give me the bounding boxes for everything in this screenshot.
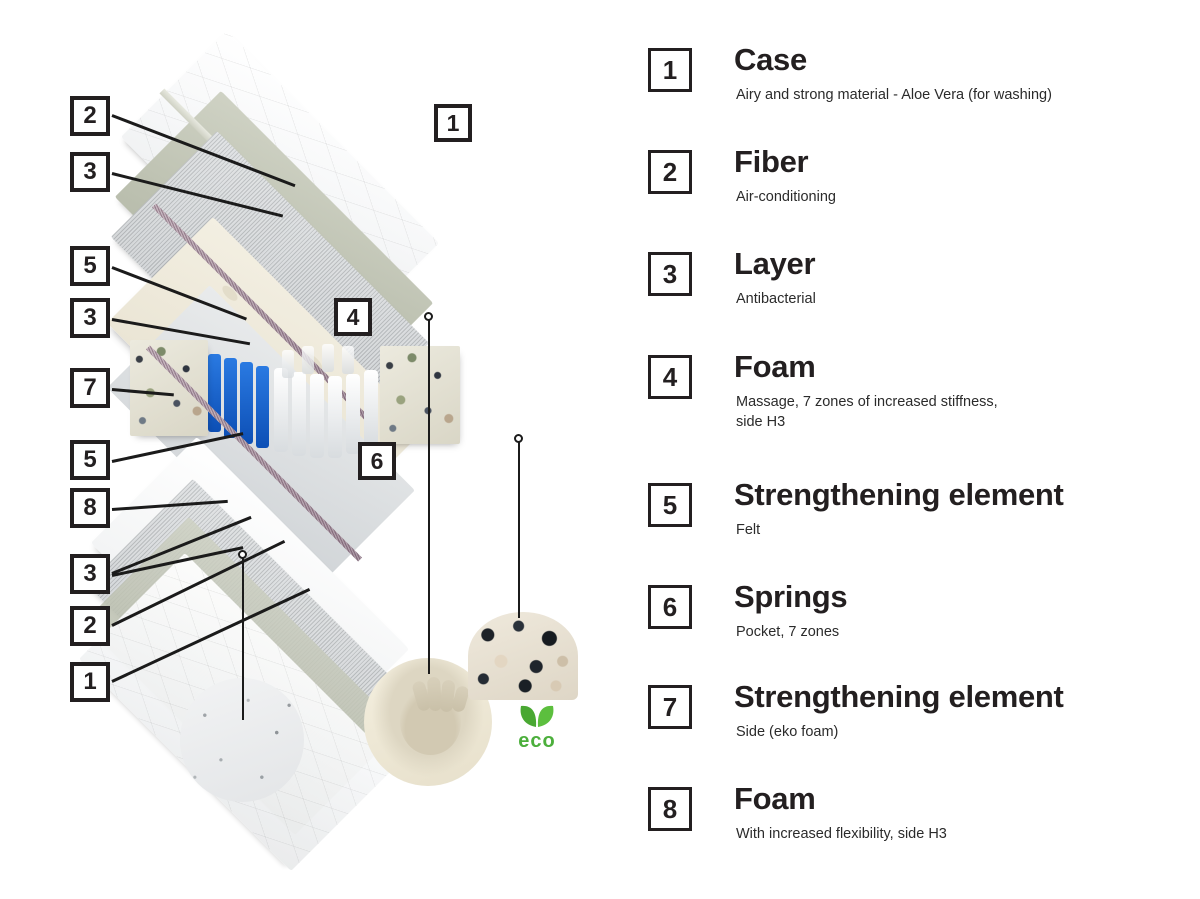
- legend-desc-7: Side (eko foam): [736, 723, 838, 743]
- legend-title-8: Foam: [734, 781, 815, 817]
- callout-left-2-top: 2: [70, 96, 110, 136]
- pointer-line-foam: [242, 558, 244, 720]
- legend-number-4: 4: [648, 355, 692, 399]
- callout-left-3-top: 3: [70, 152, 110, 192]
- callout-left-3-upper: 3: [70, 298, 110, 338]
- legend-title-5: Strengthening element: [734, 477, 1064, 513]
- legend-number-5: 5: [648, 483, 692, 527]
- legend-title-1: Case: [734, 42, 807, 78]
- legend-desc-4: Massage, 7 zones of increased stiffness,…: [736, 393, 998, 432]
- spring-pocket: [342, 346, 354, 374]
- spring-pocket: [302, 346, 314, 374]
- spring-blue: [256, 366, 269, 448]
- legend-number-8: 8: [648, 787, 692, 831]
- callout-left-2-bottom: 2: [70, 606, 110, 646]
- legend-title-7: Strengthening element: [734, 679, 1064, 715]
- legend-desc-5: Felt: [736, 521, 760, 541]
- eco-label: eco: [508, 731, 566, 751]
- legend-desc-3: Antibacterial: [736, 290, 816, 310]
- callout-image-4: 4: [334, 298, 372, 336]
- callout-left-8: 8: [70, 488, 110, 528]
- eco-badge: eco: [508, 702, 566, 751]
- legend-number-2: 2: [648, 150, 692, 194]
- legend-number-7: 7: [648, 685, 692, 729]
- callout-left-3-bottom: 3: [70, 554, 110, 594]
- legend-title-4: Foam: [734, 349, 815, 385]
- legend-number-3: 3: [648, 252, 692, 296]
- callout-left-5-upper: 5: [70, 246, 110, 286]
- legend-desc-2: Air-conditioning: [736, 188, 836, 208]
- pointer-dot-massage-foam: [424, 312, 433, 321]
- callout-image-6: 6: [358, 442, 396, 480]
- side-block-eco-foam-left: [130, 340, 208, 436]
- legend-title-6: Springs: [734, 579, 847, 615]
- detail-circle-eco-foam: [468, 612, 578, 700]
- spring-pocket: [364, 370, 378, 446]
- mattress-layers-diagram: 1 4 6 2 3 5 3 7 5 8 3 2 1: [0, 0, 1200, 899]
- pointer-dot-foam: [238, 550, 247, 559]
- pointer-line-massage-foam: [428, 320, 430, 674]
- spring-pocket: [322, 344, 334, 372]
- legend-desc-8: With increased flexibility, side H3: [736, 825, 947, 845]
- spring-pocket: [274, 368, 288, 452]
- callout-left-5-lower: 5: [70, 440, 110, 480]
- legend-desc-6: Pocket, 7 zones: [736, 623, 839, 643]
- callout-left-1-bottom: 1: [70, 662, 110, 702]
- legend-number-6: 6: [648, 585, 692, 629]
- callout-left-7: 7: [70, 368, 110, 408]
- leaf-icon: [517, 702, 557, 728]
- legend-list: 1 Case Airy and strong material - Aloe V…: [648, 40, 1168, 870]
- callout-image-1: 1: [434, 104, 472, 142]
- legend-desc-1: Airy and strong material - Aloe Vera (fo…: [736, 86, 1052, 106]
- spring-pocket: [310, 374, 324, 458]
- side-block-eco-foam-right: [380, 346, 460, 444]
- legend-title-3: Layer: [734, 246, 815, 282]
- spring-pocket: [292, 372, 306, 456]
- legend-title-2: Fiber: [734, 144, 808, 180]
- legend-number-1: 1: [648, 48, 692, 92]
- pointer-dot-eco-foam: [514, 434, 523, 443]
- spring-pocket: [282, 350, 294, 378]
- spring-pocket: [328, 376, 342, 458]
- pointer-line-eco-foam: [518, 442, 520, 618]
